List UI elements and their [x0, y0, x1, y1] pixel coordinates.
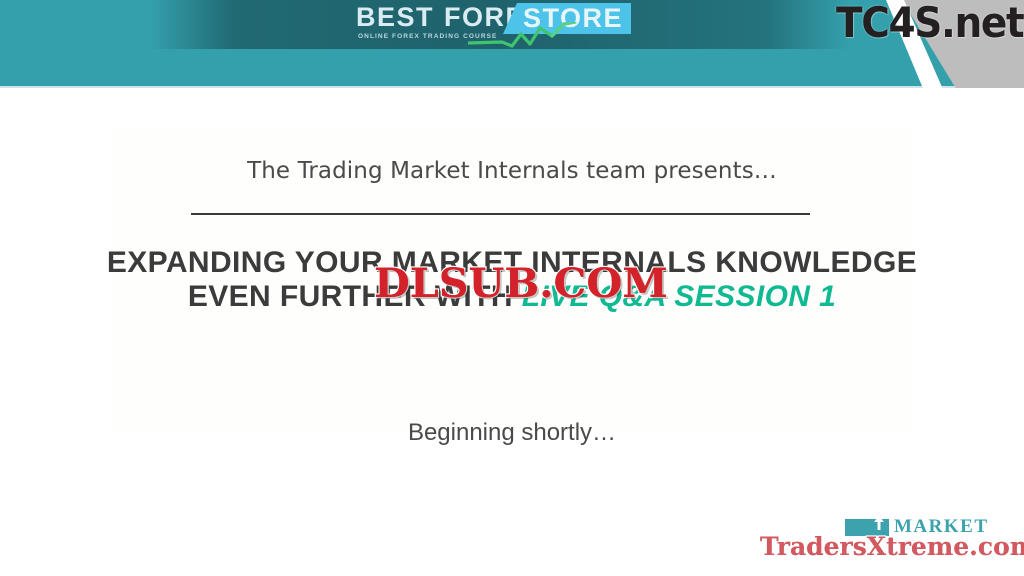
presentation-slide-screen: BEST FOREX STORE ONLINE FOREX TRADING CO…: [0, 0, 1024, 576]
slide-status-text: Beginning shortly…: [0, 419, 1024, 447]
logo-word-best: BEST: [356, 2, 434, 32]
tc4s-watermark: TC4S.net: [836, 0, 1023, 46]
arrow-up-box-icon: [871, 515, 887, 531]
best-forex-store-logo: BEST FOREX STORE ONLINE FOREX TRADING CO…: [356, 2, 662, 48]
dlsub-watermark: DLSUB.COM: [374, 264, 668, 304]
logo-tagline: ONLINE FOREX TRADING COURSE: [358, 33, 497, 40]
slide-divider-rule: [191, 213, 810, 215]
tradersxtreme-watermark: TradersXtreme.com: [760, 533, 1024, 561]
slide-presenter-line: The Trading Market Internals team presen…: [0, 158, 1024, 184]
